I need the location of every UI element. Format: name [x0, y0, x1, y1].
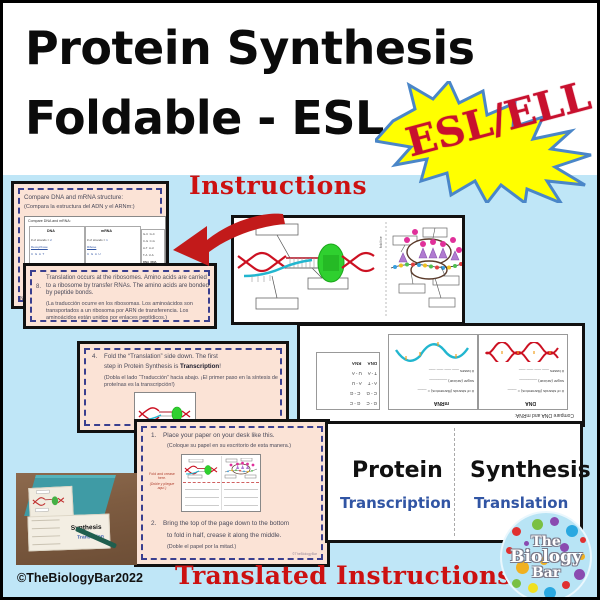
step8-text-en: Translation occurs at the ribosomes. Ami…: [46, 275, 210, 298]
step4-number: 4.: [92, 353, 97, 361]
biology-bar-logo: The Biology Bar: [500, 511, 592, 600]
product-cover: Protein Synthesis Foldable - ESL: [0, 0, 600, 600]
step4-text-en-a: Fold the “Translation” side down. The fi…: [104, 353, 280, 361]
step4-text-en-c: !: [219, 363, 221, 370]
instructions-label: Instructions: [189, 171, 367, 200]
step2-number: 2.: [151, 520, 156, 528]
step1-crease-note-en: Fold and crease here.: [145, 472, 179, 481]
step1-crease-note-es: (Doble y pliegue aquí.): [145, 482, 179, 491]
logo-line-2: Biology: [510, 549, 582, 566]
step2-text-es: (Doble el papel por la mitad.): [167, 544, 323, 551]
worksheet-compare-page-upsidedown: Compare DNA and mRNA: G - C G - C C - G …: [297, 323, 585, 427]
foldable-word-left: Protein: [352, 458, 443, 483]
copyright-text: ©TheBiologyBar2022: [17, 571, 143, 585]
step8-text-es: (La traducción ocurre en los ribosomas. …: [46, 301, 210, 321]
photo-paper-bottom: Synthesis Translation: [27, 514, 110, 552]
translation-diagram: [389, 218, 465, 322]
foldable-sub-right: Translation: [474, 494, 568, 512]
foldable-sub-left: Transcription: [340, 494, 451, 512]
instruction-card-step8: 8. Translation occurs at the ribosomes. …: [23, 263, 217, 329]
instruction-card-step1-2: 1. Place your paper on your desk like th…: [134, 419, 330, 567]
step2-text-en-b: to fold in half, crease it along the mid…: [167, 532, 323, 540]
step1-worksheet-thumb: [181, 454, 261, 512]
step1-text-es: (Coloque su papel en su escritorio de es…: [167, 443, 321, 450]
photo-paper-top: [28, 486, 74, 518]
foldable-word-right: Synthesis: [470, 458, 591, 483]
biology-bar-logo-text: The Biology Bar: [502, 513, 590, 600]
fold-divider: [454, 428, 455, 536]
svg-text:fold line: fold line: [379, 236, 383, 248]
compare-heading-en: Compare DNA and mRNA structure:: [24, 194, 166, 202]
instructions-arrow-icon: [171, 208, 291, 270]
step4-text-en-b-wrap: step in Protein Synthesis is Transcripti…: [104, 363, 280, 371]
product-photo: Synthesis Translation: [16, 473, 137, 565]
logo-line-3: Bar: [532, 566, 560, 580]
step4-keyword: Transcription: [180, 363, 219, 370]
compare-heading-es: (Compara la estructura del ADN y el ARNm…: [24, 204, 166, 211]
step8-number: 8.: [36, 284, 41, 290]
page-title-line-2: Foldable - ESL: [25, 95, 384, 141]
step4-text-en-b: step in Protein Synthesis is: [104, 363, 180, 370]
step2-text-en-a: Bring the top of the page down to the bo…: [163, 520, 323, 528]
step1-text-en: Place your paper on your desk like this.: [163, 432, 319, 440]
step1-watermark: ©TheBiologyBar: [292, 552, 317, 556]
step4-text-es: (Dobla el lado “Traducción” hacia abajo.…: [104, 375, 280, 389]
page-title-line-1: Protein Synthesis: [25, 25, 475, 71]
translated-instructions-label: Translated Instructions: [175, 561, 512, 590]
step1-number: 1.: [151, 432, 156, 440]
